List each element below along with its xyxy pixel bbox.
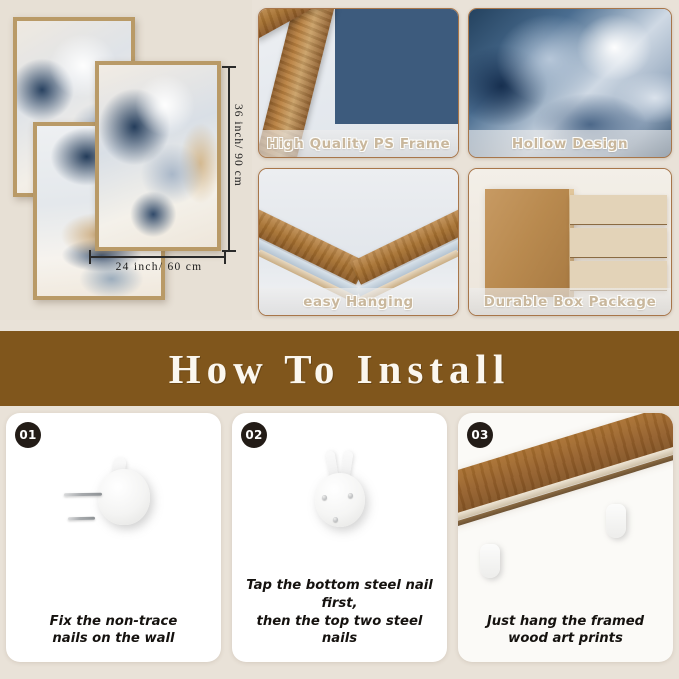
feature-caption-bar: High Quality PS Frame [259, 130, 458, 157]
step-caption-line2: nails on the wall [14, 630, 213, 648]
feature-caption-text: Durable Box Package [484, 294, 657, 310]
step-number-badge: 01 [15, 422, 41, 448]
wall-hook [480, 544, 500, 578]
size-diagram-panel: 36 inch/ 90 cm 24 inch/ 60 cm [0, 0, 252, 320]
install-step-card: 01 Fix the non-trace nails on the wall [6, 413, 221, 662]
step-caption-line1: Tap the bottom steel nail first, [240, 577, 439, 612]
step-caption: Just hang the framed wood art prints [466, 613, 665, 648]
feature-caption-bar: Durable Box Package [469, 288, 671, 315]
steel-nail [68, 516, 95, 519]
hook-disc [98, 469, 150, 525]
feature-panel-box-package: Durable Box Package [468, 168, 672, 316]
step-caption-line2: then the top two steel nails [240, 613, 439, 648]
step-caption-line1: Fix the non-trace [14, 613, 213, 631]
carton-stack [570, 195, 667, 291]
feature-caption-text: easy Hanging [303, 294, 414, 310]
abstract-artwork-b [99, 65, 217, 247]
install-step-card: 03 Just hang the framed wood art prints [458, 413, 673, 662]
feature-panel-grid: High Quality PS Frame Hollow Design [258, 8, 672, 316]
top-section: 36 inch/ 90 cm 24 inch/ 60 cm High Quali… [0, 0, 679, 330]
wall-hook [606, 504, 626, 538]
step-caption: Tap the bottom steel nail first, then th… [240, 577, 439, 648]
step-number-badge: 02 [241, 422, 267, 448]
product-infographic: 36 inch/ 90 cm 24 inch/ 60 cm High Quali… [0, 0, 679, 679]
feature-caption-bar: easy Hanging [259, 288, 458, 315]
art-frame-front-right [95, 61, 221, 251]
steel-nail [333, 517, 338, 522]
banner-title: How To Install [169, 345, 511, 393]
step-caption-line1: Just hang the framed [466, 613, 665, 631]
step-caption-line2: wood art prints [466, 630, 665, 648]
feature-caption-text: Hollow Design [512, 136, 628, 152]
feature-caption-bar: Hollow Design [469, 130, 671, 157]
steel-nail [64, 493, 102, 497]
install-step-card: 02 Tap the bottom steel nail first, then… [232, 413, 447, 662]
horizontal-dimension-label: 24 inch/ 60 cm [86, 261, 232, 273]
carton-slab [570, 228, 667, 258]
artwork-inset [335, 9, 458, 124]
feature-caption-text: High Quality PS Frame [267, 136, 451, 152]
feature-panel-hollow-design: Hollow Design [468, 8, 672, 158]
install-steps-section: 01 Fix the non-trace nails on the wall 0… [0, 413, 679, 679]
vertical-dimension-label: 36 inch/ 90 cm [226, 104, 244, 187]
how-to-install-banner: How To Install [0, 331, 679, 406]
feature-panel-easy-hanging: easy Hanging [258, 168, 459, 316]
horizontal-dimension-line [89, 256, 226, 258]
carton-slab [570, 195, 667, 225]
step-caption: Fix the non-trace nails on the wall [14, 613, 213, 648]
feature-panel-ps-frame: High Quality PS Frame [258, 8, 459, 158]
hook-disc [315, 473, 365, 527]
carton-front [485, 189, 570, 297]
step-number-badge: 03 [467, 422, 493, 448]
carton-slab [570, 261, 667, 291]
